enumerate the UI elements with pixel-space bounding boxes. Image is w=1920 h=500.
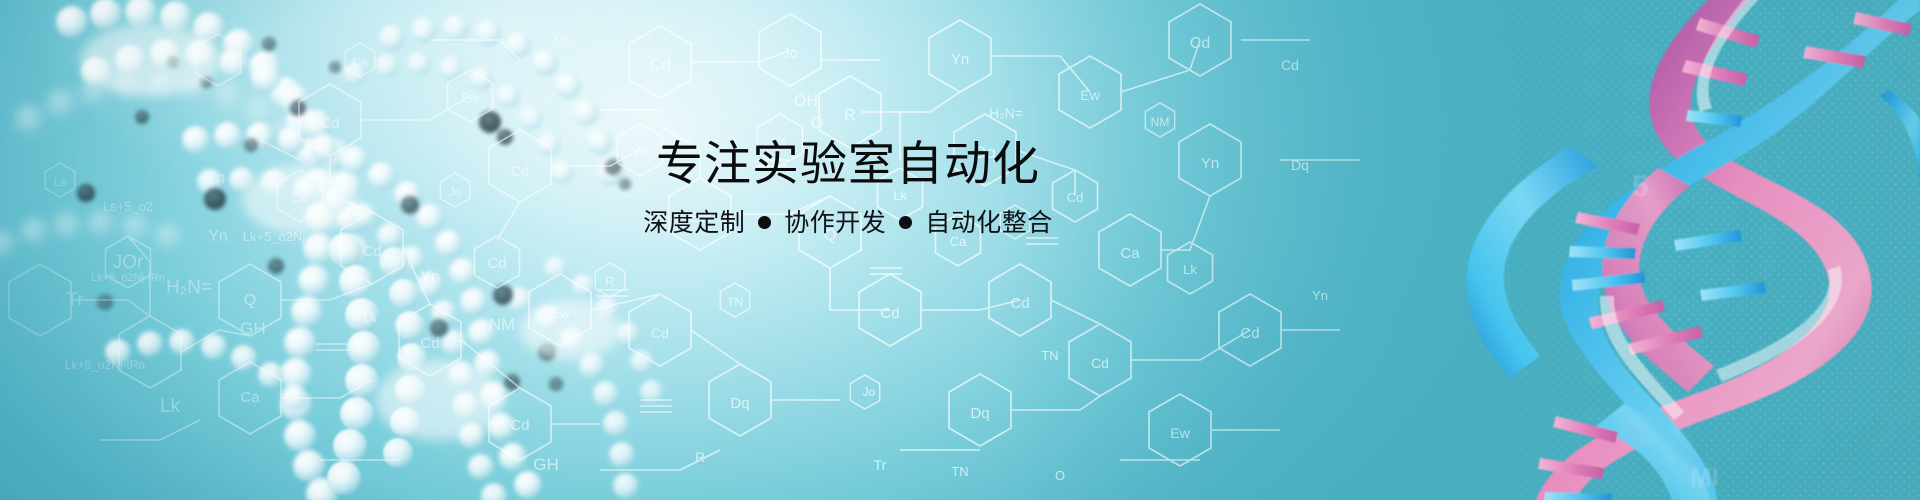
hero-text-block: 专注实验室自动化 深度定制 协作开发 自动化整合 — [608, 138, 1088, 238]
subtitle-item-2: 协作开发 — [784, 208, 886, 238]
subtitle-item-3: 自动化整合 — [925, 208, 1053, 238]
subtitle-item-1: 深度定制 — [643, 208, 745, 238]
hero-banner: Tr Lk+5_o2Nj-tRn Lk JOr Lk+5_o2Nj-tRn H₂… — [0, 0, 1920, 500]
bullet-separator-icon — [899, 216, 912, 229]
subtitle-list: 深度定制 协作开发 自动化整合 — [608, 208, 1088, 238]
bullet-separator-icon — [758, 216, 771, 229]
page-title: 专注实验室自动化 — [608, 138, 1088, 192]
background-vignette — [0, 0, 1920, 500]
